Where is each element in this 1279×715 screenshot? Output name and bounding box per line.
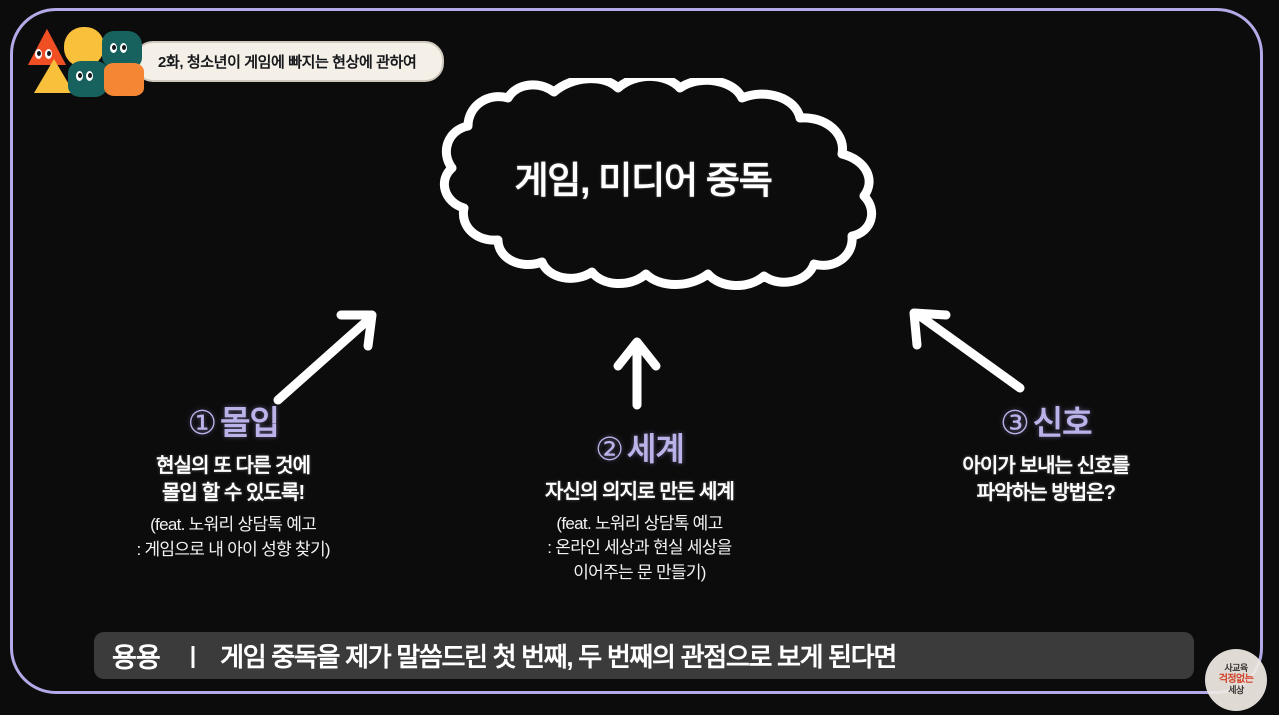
logo-teal-top-eyes-icon — [110, 43, 127, 53]
slide-canvas: 2화, 청소년이 게임에 빠지는 현상에 관하여 게임, 미디어 중독 — [0, 0, 1279, 715]
arrow-to-cloud-3 — [914, 313, 1020, 388]
point-1-title: 몰입 — [220, 404, 279, 441]
point-2-main: 자신의 의지로 만든 세계 — [442, 479, 836, 506]
logo-teal-blob-bottom-icon — [68, 61, 108, 97]
cloud-title-text: 게임, 미디어 중독 — [404, 150, 882, 204]
watermark-line-3: 세상 — [1228, 686, 1244, 695]
logo-teal-bottom-eyes-icon — [76, 71, 93, 81]
point-column-3: ③신호 아이가 보내는 신호를 파악하는 방법은? — [843, 404, 1249, 586]
watermark-line-1: 사교육 — [1224, 664, 1247, 673]
subtitle-caption-bar: 용용 | 게임 중독을 제가 말씀드린 첫 번째, 두 번째의 관점으로 보게 … — [94, 632, 1194, 679]
point-3-main-line-2: 파악하는 방법은? — [849, 480, 1243, 507]
point-1-heading: ①몰입 — [36, 404, 430, 442]
logo-red-eyes-icon — [35, 49, 52, 59]
episode-title-badge: 2화, 청소년이 게임에 빠지는 현상에 관하여 — [134, 41, 444, 82]
point-column-2: ②세계 자신의 의지로 만든 세계 (feat. 노워리 상담톡 예고 : 온라… — [436, 404, 842, 586]
point-2-sub-line-2: : 온라인 세상과 현실 세상을 — [442, 536, 836, 561]
point-3-number: ③ — [1000, 404, 1029, 441]
point-2-main-line-1: 자신의 의지로 만든 세계 — [442, 479, 836, 506]
channel-watermark-logo: 사교육 걱정없는 세상 — [1205, 649, 1267, 711]
point-2-sub: (feat. 노워리 상담톡 예고 : 온라인 세상과 현실 세상을 이어주는 … — [442, 512, 836, 586]
point-1-sub-line-1: (feat. 노워리 상담톡 예고 — [36, 513, 430, 538]
point-3-main-line-1: 아이가 보내는 신호를 — [849, 453, 1243, 480]
cloud-callout: 게임, 미디어 중독 — [404, 78, 882, 290]
point-2-sub-line-3: 이어주는 문 만들기) — [442, 561, 836, 586]
point-2-title: 세계 — [627, 431, 684, 467]
point-2-number: ② — [595, 431, 623, 467]
caption-text: 게임 중독을 제가 말씀드린 첫 번째, 두 번째의 관점으로 보게 된다면 — [220, 637, 1176, 674]
point-1-number: ① — [188, 404, 217, 441]
point-1-main-line-1: 현실의 또 다른 것에 — [36, 453, 430, 480]
noworry-characters-logo-icon — [26, 25, 128, 97]
point-1-main-line-2: 몰입 할 수 있도록! — [36, 480, 430, 507]
arrow-to-cloud-2 — [618, 342, 656, 405]
point-2-heading: ②세계 — [442, 431, 836, 468]
caption-speaker-name: 용용 — [112, 636, 160, 675]
three-point-columns: ①몰입 현실의 또 다른 것에 몰입 할 수 있도록! (feat. 노워리 상… — [30, 404, 1249, 586]
arrow-to-cloud-1 — [278, 315, 372, 400]
logo-orange-square-icon — [104, 63, 144, 96]
point-column-1: ①몰입 현실의 또 다른 것에 몰입 할 수 있도록! (feat. 노워리 상… — [30, 404, 436, 586]
point-2-sub-line-1: (feat. 노워리 상담톡 예고 — [442, 512, 836, 537]
point-3-heading: ③신호 — [849, 404, 1243, 442]
caption-divider: | — [190, 642, 196, 669]
point-3-main: 아이가 보내는 신호를 파악하는 방법은? — [849, 453, 1243, 507]
point-1-sub: (feat. 노워리 상담톡 예고 : 게임으로 내 아이 성향 찾기) — [36, 513, 430, 562]
point-1-main: 현실의 또 다른 것에 몰입 할 수 있도록! — [36, 453, 430, 507]
watermark-line-2: 걱정없는 — [1219, 675, 1253, 686]
header-row: 2화, 청소년이 게임에 빠지는 현상에 관하여 — [26, 22, 444, 100]
point-3-title: 신호 — [1033, 404, 1092, 441]
point-1-sub-line-2: : 게임으로 내 아이 성향 찾기) — [36, 538, 430, 563]
